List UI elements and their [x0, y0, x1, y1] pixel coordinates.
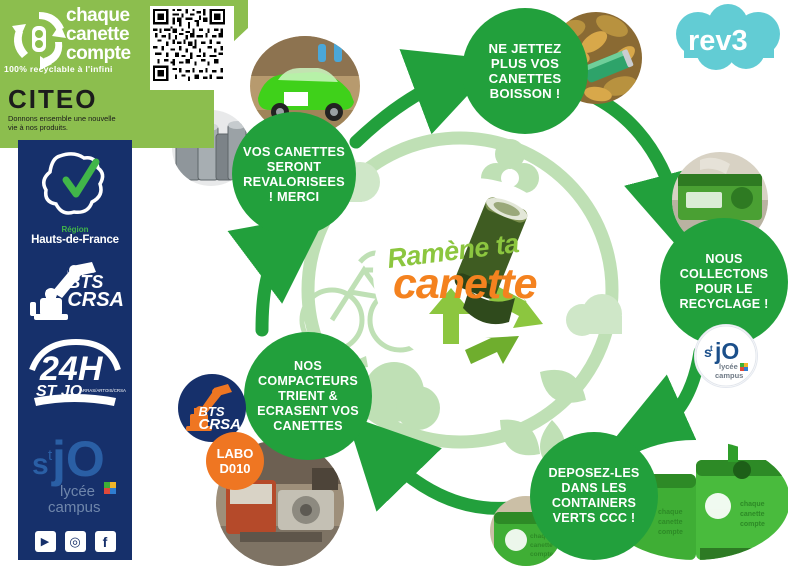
- svg-text:lycée: lycée: [719, 362, 738, 371]
- brand-tagline: 100% recyclable à l'infini: [4, 64, 152, 74]
- brand-wordmark: chaque canette compte: [66, 6, 150, 63]
- youtube-icon[interactable]: ▶: [35, 531, 56, 552]
- svg-text:compte: compte: [530, 551, 554, 558]
- school-jo: jO: [51, 431, 105, 487]
- school-line2: campus: [48, 499, 101, 516]
- instagram-icon[interactable]: ◎: [65, 531, 86, 552]
- svg-text:canette: canette: [658, 519, 683, 526]
- bts-crsa-sidebar-logo: LABORATOIRE BTS CRSA: [18, 258, 132, 330]
- cycle-node-label: NE JETTEZ PLUS VOS CANETTES BOISSON !: [462, 41, 588, 101]
- brand-line2: canette: [66, 25, 150, 44]
- arrow-top-to-right: [592, 96, 678, 212]
- rev3-wordmark: rev3: [688, 25, 748, 57]
- svg-text:chaque: chaque: [658, 509, 683, 516]
- brand-line3: compte: [66, 44, 150, 63]
- cycle-node-revalorisees[interactable]: VOS CANETTES SERONT REVALORISEES ! MERCI: [232, 112, 356, 236]
- cycle-node-ne-jettez[interactable]: NE JETTEZ PLUS VOS CANETTES BOISSON !: [462, 8, 588, 134]
- bts-sidebar-text: LABORATOIRE BTS CRSA: [67, 270, 124, 310]
- sponsor-sidebar: Région Hauts-de-France LABORATOIRE BTS C…: [18, 140, 132, 560]
- labo-badge: LABO D010: [206, 432, 264, 490]
- bts-badge-text: BTS CRSA: [198, 406, 241, 432]
- school-st: s: [32, 448, 49, 481]
- citeo-name: CITEO: [8, 86, 138, 112]
- center-logo-line2: canette: [393, 260, 537, 309]
- svg-text:t: t: [710, 344, 713, 353]
- labo-badge-line1: LABO: [217, 446, 254, 461]
- svg-text:campus: campus: [715, 371, 743, 380]
- recycling-can-icon: [8, 8, 70, 70]
- region-label: Région: [18, 225, 132, 234]
- labo-badge-line2: D010: [217, 461, 254, 476]
- cycle-node-deposez-les[interactable]: DEPOSEZ-LES DANS LES CONTAINERS VERTS CC…: [530, 432, 658, 560]
- svg-text:canette: canette: [740, 511, 765, 518]
- arrow-left-bottom-to-left-top: [262, 244, 286, 330]
- france-map-icon: [38, 150, 112, 218]
- bts-line2: CRSA: [67, 291, 124, 310]
- stjo-lycee-campus-logo: s t jO lycée campus: [18, 418, 132, 518]
- region-hauts-de-france-logo: Région Hauts-de-France: [18, 140, 132, 246]
- citeo-logo: CITEO Donnons ensemble une nouvelle vie …: [8, 86, 138, 132]
- brand-line1: chaque: [66, 6, 150, 25]
- cycle-node-label: DEPOSEZ-LES DANS LES CONTAINERS VERTS CC…: [530, 466, 658, 526]
- cycle-node-label: VOS CANETTES SERONT REVALORISEES ! MERCI: [232, 144, 356, 204]
- svg-text:jO: jO: [714, 338, 739, 364]
- center-logo: Ramène ta canette: [373, 178, 573, 368]
- social-links: ▶ ◎ f: [18, 531, 132, 552]
- event-sub: ARRAS/ARTOIS/CRSA: [80, 388, 126, 393]
- svg-text:compte: compte: [658, 529, 683, 536]
- citeo-tagline: Donnons ensemble une nouvelle vie à nos …: [8, 114, 118, 132]
- bts-badge-line2: CRSA: [198, 418, 241, 432]
- arrow-bottom-to-left-bottom: [382, 452, 524, 508]
- cycle-node-label: NOS COMPACTEURS TRIENT & ECRASENT VOS CA…: [244, 359, 372, 434]
- plus-icon: [104, 482, 116, 494]
- svg-text:chaque: chaque: [740, 501, 765, 508]
- plus-icon: [740, 363, 748, 371]
- qr-code[interactable]: [150, 6, 234, 90]
- facebook-icon[interactable]: f: [95, 531, 116, 552]
- svg-text:compte: compte: [740, 521, 765, 528]
- cycle-node-nos-compacteurs[interactable]: NOS COMPACTEURS TRIENT & ECRASENT VOS CA…: [244, 332, 372, 460]
- cycle-node-label: NOUS COLLECTONS POUR LE RECYCLAGE !: [660, 252, 788, 312]
- 24h-stjo-logo: 24H ST JO ARRAS/ARTOIS/CRSA: [18, 334, 132, 410]
- infographic-poster: chaquecanettecompte chaquecanettecompte …: [0, 0, 800, 566]
- arrow-top-left-to-top: [356, 78, 452, 142]
- arrow-right-to-bottom: [650, 352, 700, 432]
- region-name: Hauts-de-France: [18, 234, 132, 246]
- school-line1: lycée: [60, 483, 95, 500]
- rev3-logo: rev3: [664, 4, 792, 74]
- stjo-green-badge: s t jO lycée campus: [694, 324, 758, 388]
